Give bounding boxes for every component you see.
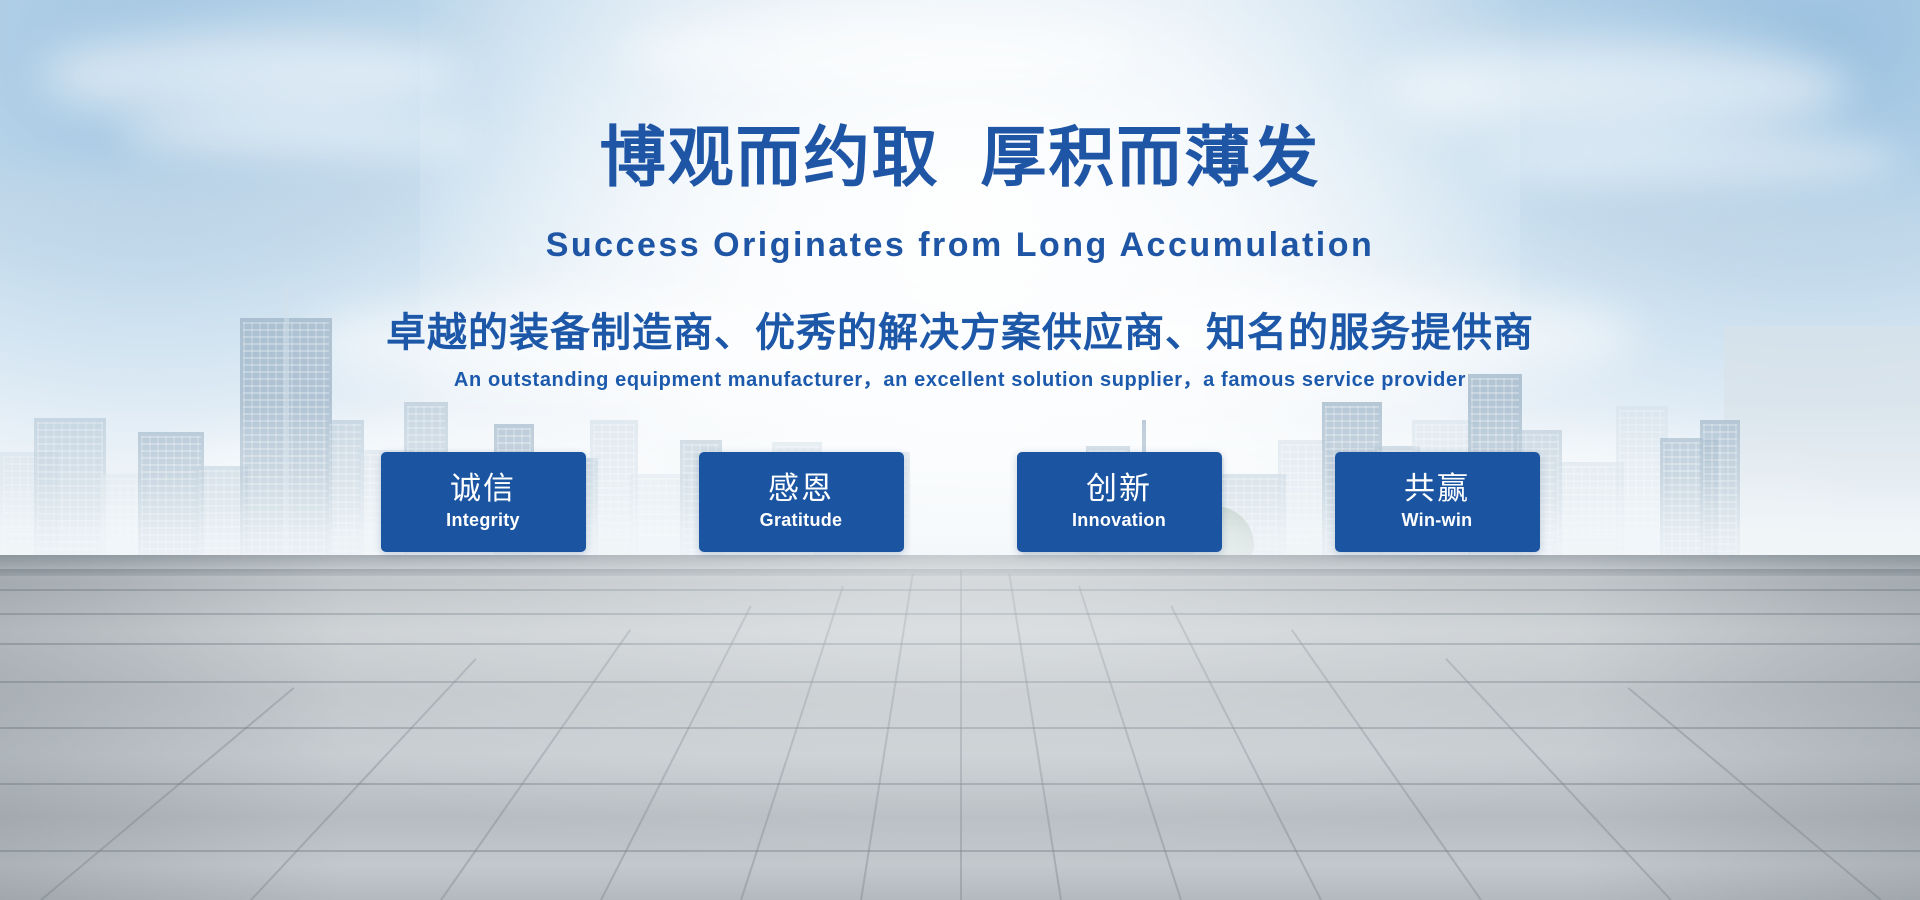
subheadline-chinese: 卓越的装备制造商、优秀的解决方案供应商、知名的服务提供商: [0, 313, 1920, 353]
value-card-integrity[interactable]: 诚信 Integrity: [381, 452, 586, 552]
value-card-innovation[interactable]: 创新 Innovation: [1017, 452, 1222, 552]
value-card-label-en: Innovation: [1072, 510, 1166, 532]
value-card-label-cn: 感恩: [768, 472, 834, 506]
hero-banner: 博观而约取 厚积而薄发 Success Originates from Long…: [0, 0, 1920, 900]
core-values-list: 诚信 Integrity 感恩 Gratitude 创新 Innovation …: [0, 452, 1920, 552]
banner-content: 博观而约取 厚积而薄发 Success Originates from Long…: [0, 0, 1920, 900]
headline-chinese: 博观而约取 厚积而薄发: [0, 124, 1920, 190]
value-card-label-cn: 诚信: [450, 472, 516, 506]
value-card-gratitude[interactable]: 感恩 Gratitude: [699, 452, 904, 552]
headline-english: Success Originates from Long Accumulatio…: [0, 228, 1920, 262]
value-card-label-en: Win-win: [1402, 510, 1473, 532]
subheadline-english: An outstanding equipment manufacturer，an…: [0, 370, 1920, 390]
value-card-label-cn: 创新: [1086, 472, 1152, 506]
value-card-winwin[interactable]: 共赢 Win-win: [1335, 452, 1540, 552]
value-card-label-en: Gratitude: [760, 510, 843, 532]
value-card-label-cn: 共赢: [1404, 472, 1470, 506]
value-card-label-en: Integrity: [446, 510, 520, 532]
